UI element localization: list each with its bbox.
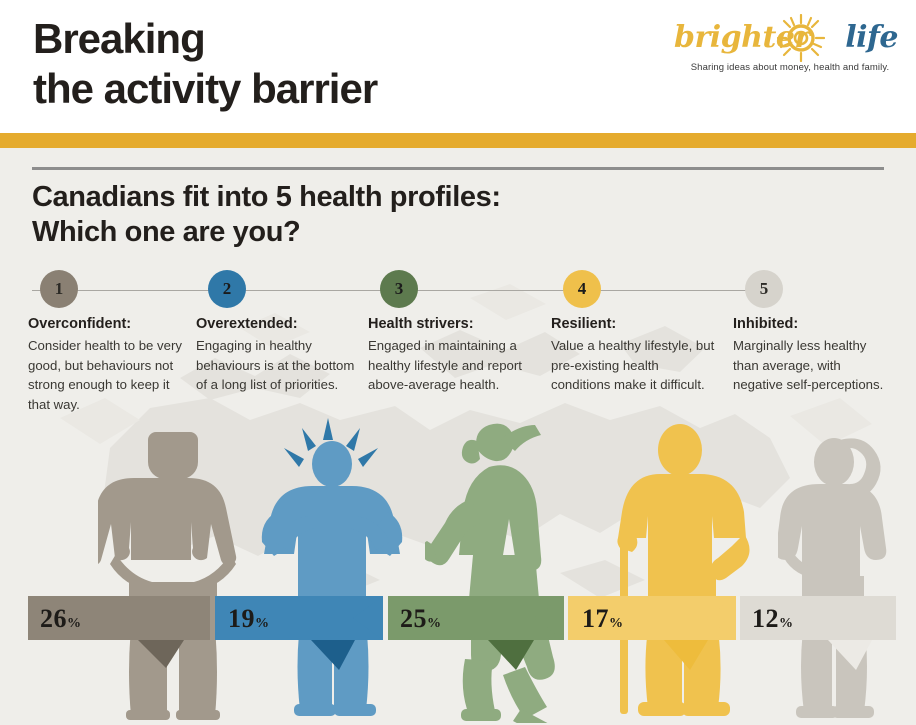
profile-number-badge: 2: [208, 270, 246, 308]
brighter-life-logo[interactable]: brighter: [654, 12, 902, 80]
profile-title: Overconfident:: [28, 316, 131, 332]
header: Breaking the activity barrier brighter: [0, 0, 916, 133]
sun-icon: [777, 14, 825, 62]
profile-description: Consider health to be very good, but beh…: [28, 336, 188, 414]
main-content: Canadians fit into 5 health profiles: Wh…: [0, 148, 916, 725]
page-title: Breaking the activity barrier: [33, 14, 377, 114]
profile-description: Value a healthy lifestyle, but pre-exist…: [551, 336, 717, 395]
profile-number-badge: 4: [563, 270, 601, 308]
profile-description: Marginally less healthy than average, wi…: [733, 336, 891, 395]
profile-list: 1 Overconfident: Consider health to be v…: [0, 148, 916, 725]
profile-description: Engaging in healthy behaviours is at the…: [196, 336, 356, 395]
profile-title: Health strivers:: [368, 316, 474, 332]
logo-tagline: Sharing ideas about money, health and fa…: [678, 62, 902, 73]
profile-number: 5: [760, 279, 769, 299]
profile-description: Engaged in maintaining a healthy lifesty…: [368, 336, 540, 395]
logo-word-life: life: [845, 20, 898, 55]
profile-number: 1: [55, 279, 64, 299]
profile-title: Inhibited:: [733, 316, 798, 332]
profile-number: 4: [578, 279, 587, 299]
infographic-canvas: Breaking the activity barrier brighter: [0, 0, 916, 725]
profile-title: Resilient:: [551, 316, 616, 332]
gold-accent-bar: [0, 133, 916, 148]
profile-number: 3: [395, 279, 404, 299]
profile-number: 2: [223, 279, 232, 299]
profile-number-badge: 3: [380, 270, 418, 308]
profile-title: Overextended:: [196, 316, 298, 332]
profile-number-badge: 1: [40, 270, 78, 308]
profile-number-badge: 5: [745, 270, 783, 308]
